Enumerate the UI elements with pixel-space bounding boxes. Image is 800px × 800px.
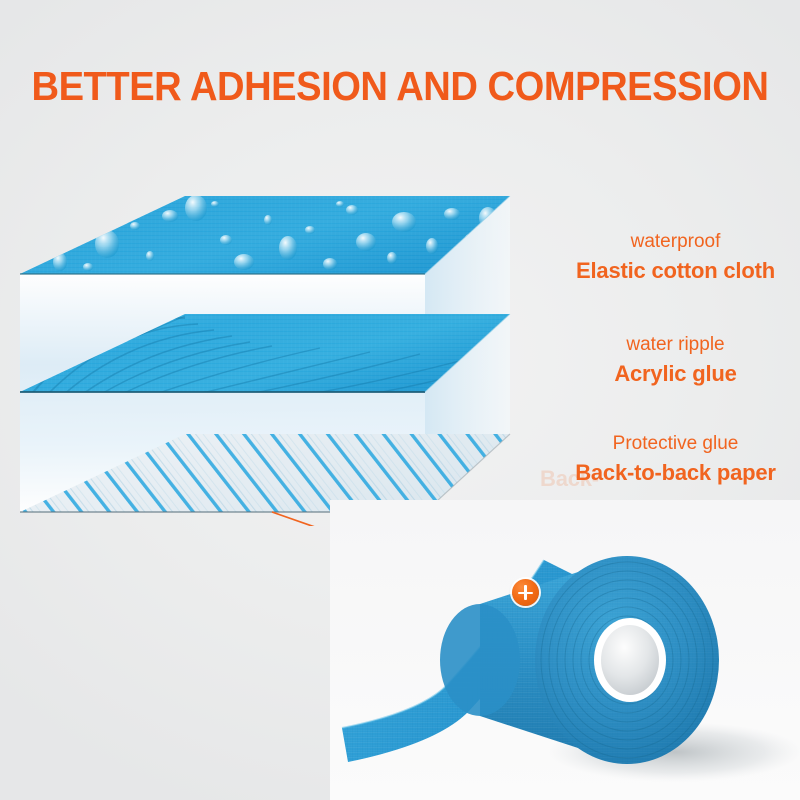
roll-face [535, 556, 719, 764]
roll-core-hole [601, 625, 659, 695]
plus-vertical-bar [524, 585, 527, 600]
label-caption: waterproof [558, 228, 793, 255]
layer-sheet-top [20, 196, 510, 274]
page-title: BETTER ADHESION AND COMPRESSION [28, 60, 772, 112]
label-caption: Protective glue [558, 430, 793, 457]
exploded-layer-diagram [0, 196, 620, 526]
label-title: Acrylic glue [558, 358, 793, 389]
label-group-acrylic-glue: water ripple Acrylic glue [558, 331, 793, 389]
label-title: Elastic cotton cloth [558, 255, 793, 286]
plus-icon[interactable] [512, 579, 539, 606]
infographic-canvas: BETTER ADHESION AND COMPRESSION [0, 0, 800, 800]
label-caption: water ripple [558, 331, 793, 358]
kinesiology-tape-roll [330, 500, 800, 800]
watermark-text: Back- [540, 466, 599, 492]
label-group-elastic-cotton-cloth: waterproof Elastic cotton cloth [558, 228, 793, 286]
